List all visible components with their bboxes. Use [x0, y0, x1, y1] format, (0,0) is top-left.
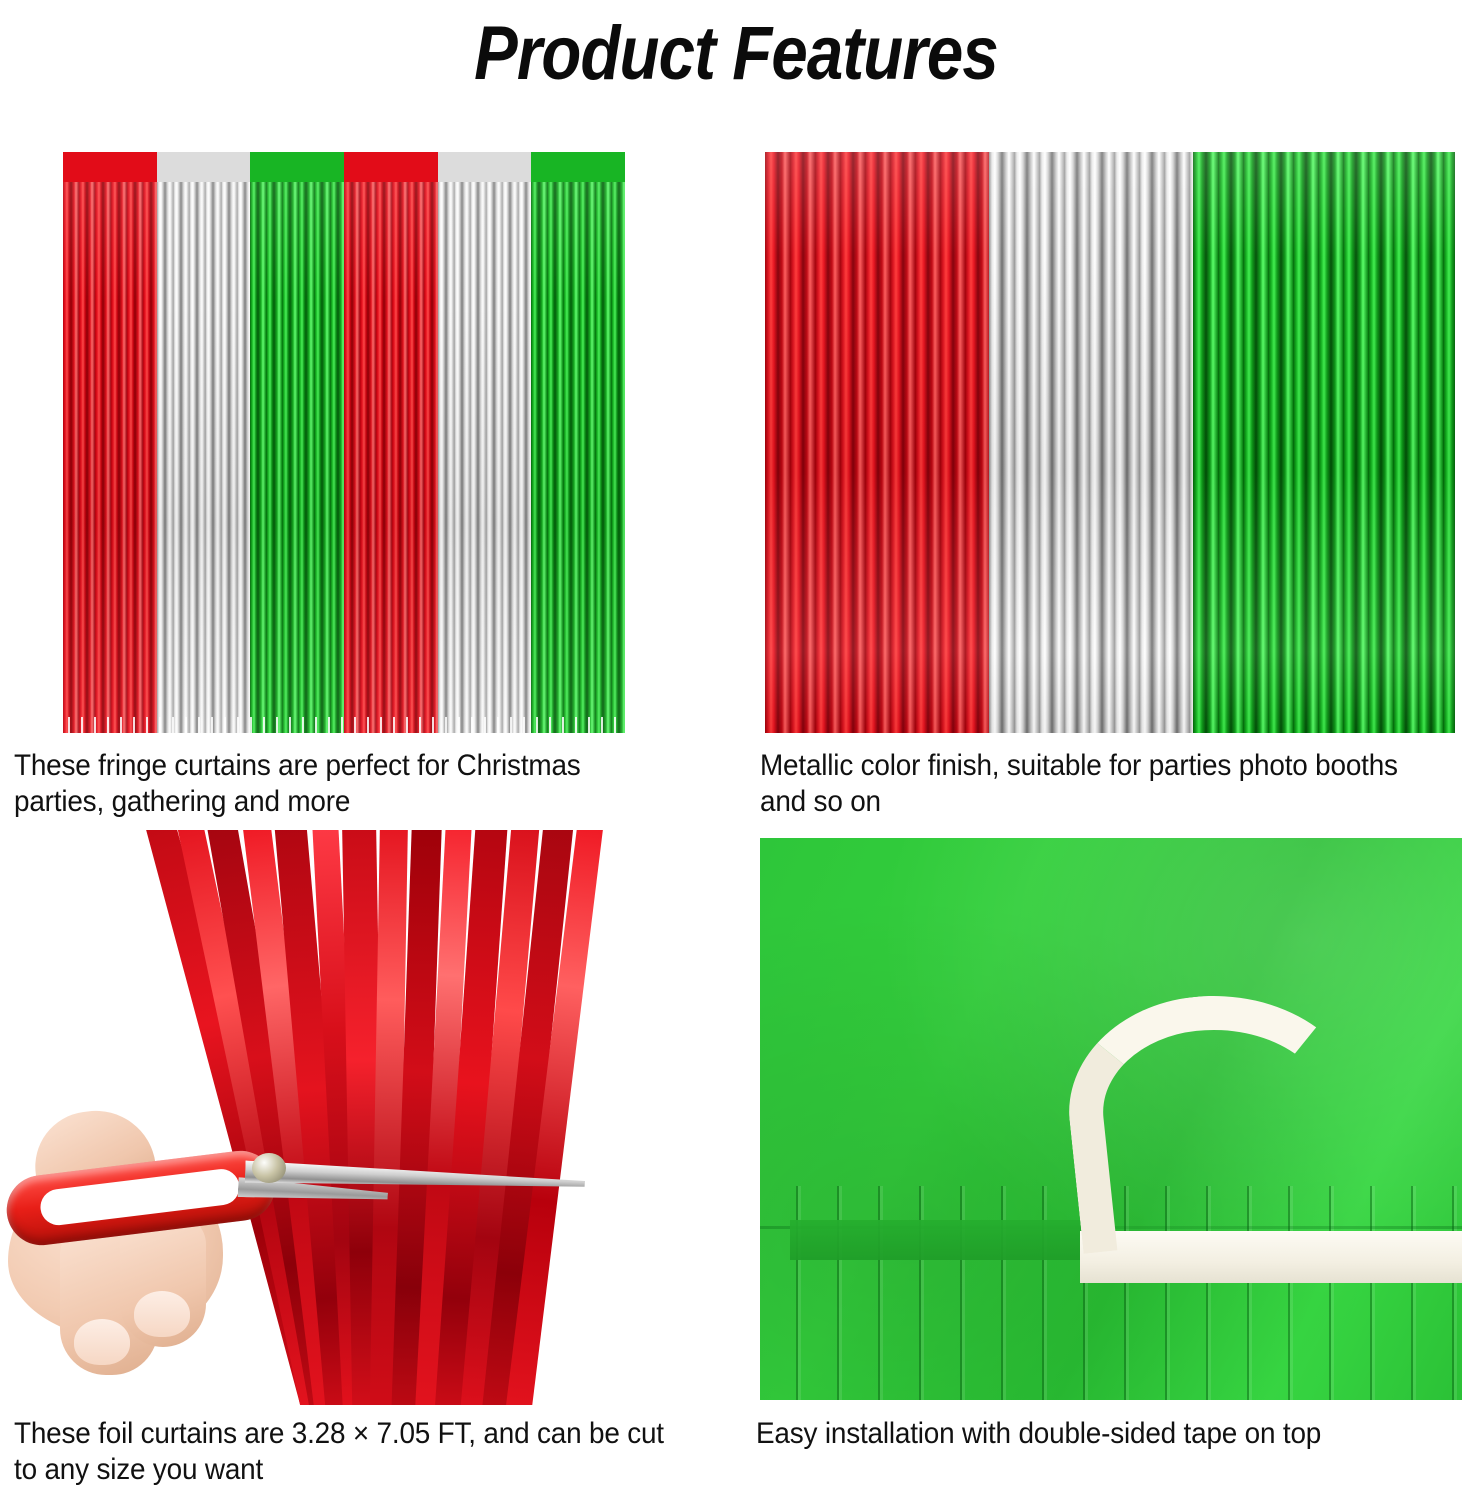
metallic-closeup-photo	[765, 152, 1455, 733]
tape-backing-left	[790, 1220, 1090, 1260]
ring-finger	[120, 1215, 206, 1347]
feature-caption-1: These fringe curtains are perfect for Ch…	[14, 748, 665, 820]
curtain-panel-red	[765, 152, 989, 733]
double-sided-tape-photo	[760, 838, 1462, 1400]
feature-card-2: Metallic color finish, suitable for part…	[736, 130, 1472, 830]
curtain-panels-closeup	[765, 152, 1455, 733]
curtain-panels	[63, 152, 625, 733]
curtain-panel-green	[531, 152, 625, 733]
feature-card-1: These fringe curtains are perfect for Ch…	[0, 130, 736, 830]
scissors-pivot-screw	[252, 1153, 286, 1183]
feature-card-3: These foil curtains are 3.28 × 7.05 FT, …	[0, 830, 736, 1500]
page-title: Product Features	[103, 2, 1369, 106]
foil-strands	[1193, 152, 1455, 733]
six-panel-fringe-curtain-photo	[63, 152, 625, 733]
fingernail	[134, 1291, 190, 1337]
curtain-panel-green	[1193, 152, 1455, 733]
feature-caption-2: Metallic color finish, suitable for part…	[760, 748, 1422, 820]
panel-fringe	[157, 182, 251, 733]
feature-caption-3: These foil curtains are 3.28 × 7.05 FT, …	[14, 1416, 674, 1488]
scissors-cutting-curtain-photo	[0, 830, 700, 1405]
panel-fringe	[250, 182, 344, 733]
hand-with-scissors	[0, 1105, 330, 1395]
panel-fringe	[438, 182, 532, 733]
panel-fringe	[531, 182, 625, 733]
curtain-panel-green	[250, 152, 344, 733]
foil-strands	[765, 152, 989, 733]
curtain-panel-red	[344, 152, 438, 733]
foil-strands	[989, 152, 1193, 733]
curtain-panel-silver	[989, 152, 1193, 733]
fingernail	[74, 1319, 130, 1365]
curtain-panel-silver	[438, 152, 532, 733]
curtain-panel-red	[63, 152, 157, 733]
panel-fringe	[344, 182, 438, 733]
curtain-panel-silver	[157, 152, 251, 733]
feature-caption-4: Easy installation with double-sided tape…	[756, 1416, 1422, 1452]
feature-card-4: Easy installation with double-sided tape…	[736, 830, 1472, 1500]
panel-fringe	[63, 182, 157, 733]
